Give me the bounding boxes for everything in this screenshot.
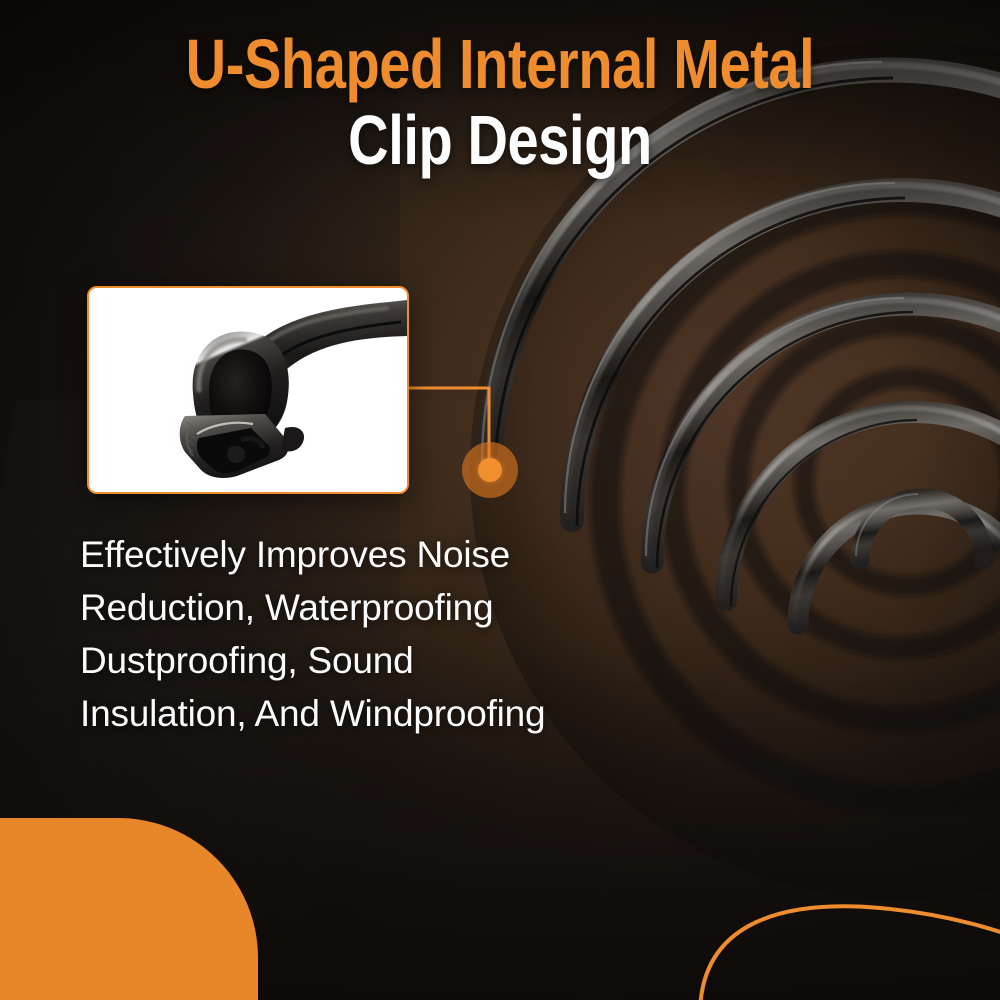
- heading-line-2: Clip Design: [100, 102, 900, 178]
- callout-dot-core-icon: [478, 458, 502, 482]
- body-copy: Effectively Improves Noise Reduction, Wa…: [80, 528, 700, 740]
- seal-profile-photo[interactable]: [87, 286, 409, 494]
- body-copy-line: Dustproofing, Sound: [80, 634, 700, 687]
- heading-block: U-Shaped Internal Metal Clip Design: [0, 26, 1000, 178]
- body-copy-line: Effectively Improves Noise: [80, 528, 700, 581]
- heading-line-1: U-Shaped Internal Metal: [100, 26, 900, 102]
- body-copy-line: Insulation, And Windproofing: [80, 687, 700, 740]
- product-feature-banner: U-Shaped Internal Metal Clip Design: [0, 0, 1000, 1000]
- body-copy-line: Reduction, Waterproofing: [80, 581, 700, 634]
